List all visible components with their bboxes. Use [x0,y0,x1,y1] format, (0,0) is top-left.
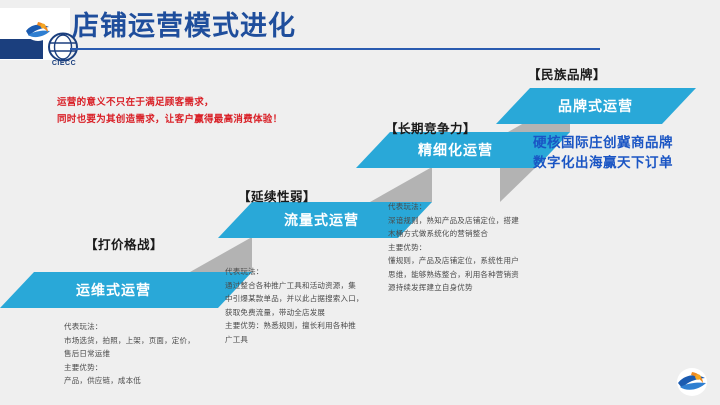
step-bracket-label-3: 【长期竞争力】 [385,118,476,137]
step-band-label-3: 精细化运营 [418,140,493,160]
step-body-line: 懂规则，产品及店铺定位，系统性用户 [388,254,546,268]
step-bracket-label-2: 【延续性弱】 [238,186,316,205]
step-band-label-4: 品牌式运营 [558,96,633,116]
step-body-line: 产品，供应链，成本低 [64,374,214,388]
step-body-line: 获取免费流量，带动全店发展 [225,306,380,320]
step-body-line: 中引爆某款单品，并以此占据搜索入口， [225,292,380,306]
step-body-line: 代表玩法： [64,320,214,334]
step-body-1: 代表玩法： 市场选货，拍照，上架，页面，定价， 售后日常运维 主要优势： 产品，… [64,320,214,388]
step-body-line: 主要优势： [64,361,214,375]
step-band-label-1: 运维式运营 [76,280,151,300]
step-body-line: 源持续发挥建立自身优势 [388,281,546,295]
highlight-line-1: 硬核国际庄创冀商品牌 [533,133,673,153]
step-bracket-label-1: 【打价格战】 [85,234,163,253]
step-body-line: 主要优势：熟悉规则，擅长利用各种推 [225,319,380,333]
step-body-line: 售后日常运维 [64,347,214,361]
corner-globe-logo-icon [676,367,708,397]
step-band-4[interactable]: 品牌式运营 [496,88,720,124]
step-body-line: 思维，能够熟练整合，利用各种营销资 [388,268,546,282]
step-body-line: 主要优势： [388,241,546,255]
step-band-label-2: 流量式运营 [284,210,359,230]
slide-canvas: CIECC 店铺运营模式进化 运营的意义不只在于满足顾客需求， 同时也要为其创造… [0,0,720,405]
step-body-line: 市场选货，拍照，上架，页面，定价， [64,334,214,348]
step-body-line: 广工具 [225,333,380,347]
step-body-line: 深谙规则，熟知产品及店铺定位，搭建 [388,214,546,228]
step-body-line: 通过整合各种推广工具和活动资源，集 [225,279,380,293]
step-body-line: 代表玩法： [388,200,546,214]
step-body-line: 木桶方式做系统化的营销整合 [388,227,546,241]
step-bracket-label-4: 【民族品牌】 [528,64,606,83]
highlight-line-2: 数字化出海赢天下订单 [533,153,673,173]
highlight-callout: 硬核国际庄创冀商品牌 数字化出海赢天下订单 [533,133,673,173]
step-body-line: 代表玩法： [225,265,380,279]
step-body-2: 代表玩法： 通过整合各种推广工具和活动资源，集 中引爆某款单品，并以此占据搜索入… [225,265,380,346]
step-body-3: 代表玩法： 深谙规则，熟知产品及店铺定位，搭建 木桶方式做系统化的营销整合 主要… [388,200,546,295]
